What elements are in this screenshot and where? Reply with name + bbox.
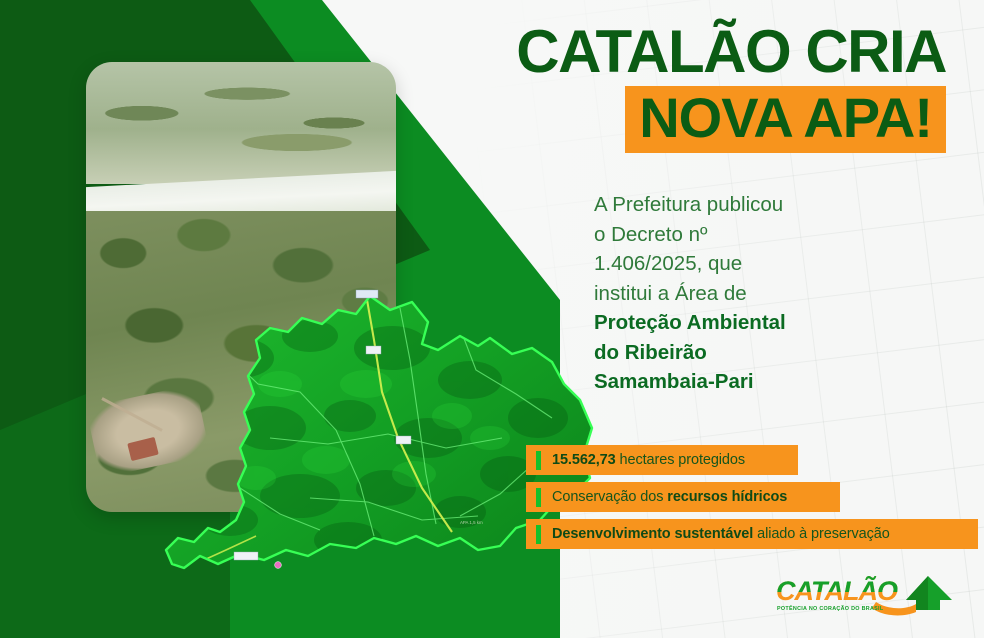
badge-accent-bar [536,451,541,470]
logo-tagline: POTÊNCIA NO CORAÇÃO DO BRASIL [777,604,884,612]
body-line-2: o Decreto nº [594,220,894,250]
badge-sustainability-rest: aliado à preservação [753,526,890,542]
badge-hectares: 15.562,73 hectares protegidos [526,445,798,475]
badge-accent-bar [536,488,541,507]
body-strong-1: Proteção Ambiental [594,308,894,338]
badge-sustainability-text: Desenvolvimento sustentável aliado à pre… [552,526,890,542]
badge-water: Conservação dos recursos hídricos [526,482,840,512]
badge-sustainability-bold: Desenvolvimento sustentável [552,526,753,542]
body-paragraph: A Prefeitura publicou o Decreto nº 1.406… [594,190,894,397]
headline-line-1: CATALÃO CRIA [402,22,962,82]
badge-water-text: Conservação dos recursos hídricos [552,489,787,505]
badge-accent-bar [536,525,541,544]
badge-water-bold: recursos hídricos [667,489,787,505]
badge-hectares-text: 15.562,73 hectares protegidos [552,452,745,468]
body-line-4: institui a Área de [594,279,894,309]
highlight-badges: 15.562,73 hectares protegidos Conservaçã… [526,445,978,556]
badge-water-pre: Conservação dos [552,489,667,505]
photo-horizon [86,62,396,184]
arrow-icon [906,576,952,610]
badge-hectares-rest: hectares protegidos [616,452,745,468]
body-line-1: A Prefeitura publicou [594,190,894,220]
poster-canvas: aerial-photo-cerrado-river [0,0,984,638]
headline-block: CATALÃO CRIA NOVA APA! [402,22,962,153]
badge-hectares-value: 15.562,73 [552,452,616,468]
body-strong-3: Samambaia-Pari [594,367,894,397]
headline-line-2-wrap: NOVA APA! [402,86,962,153]
headline-line-2: NOVA APA! [625,86,946,153]
catalao-logo: CATALÃO CATALÃO POTÊNCIA NO CORAÇÃO DO B… [756,560,966,620]
aerial-photo: aerial-photo-cerrado-river [86,62,396,512]
badge-sustainability: Desenvolvimento sustentável aliado à pre… [526,519,978,549]
body-strong-2: do Ribeirão [594,338,894,368]
body-line-3: 1.406/2025, que [594,249,894,279]
